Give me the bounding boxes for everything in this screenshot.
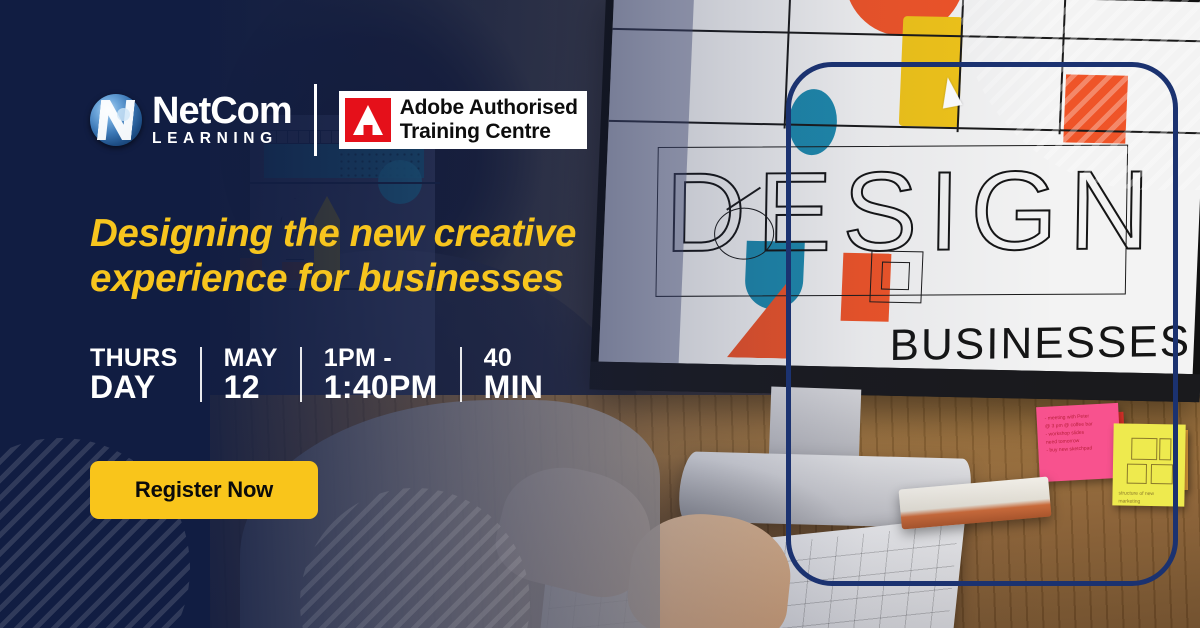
desktop-monitor: DESIGN BUSINESSES xyxy=(589,0,1200,402)
event-time-start: 1PM - xyxy=(324,345,438,371)
netcom-globe-icon xyxy=(90,94,142,146)
register-now-button[interactable]: Register Now xyxy=(90,461,318,519)
detail-divider xyxy=(460,347,462,402)
sticky-note-yellow: structure of new marketing xyxy=(1112,423,1185,506)
adobe-badge-line1: Adobe Authorised xyxy=(400,96,578,120)
screen-shape-orange-square xyxy=(1063,74,1128,143)
event-day-top: THURS xyxy=(90,345,178,371)
sticky-pink-text: - meeting with Peter @ 3 pm @ coffee bar… xyxy=(1036,404,1102,463)
adobe-badge-text: Adobe Authorised Training Centre xyxy=(400,96,578,145)
event-detail-time: 1PM - 1:40PM xyxy=(302,345,460,404)
detail-divider xyxy=(200,347,202,402)
screen-spiral-motif xyxy=(869,250,923,303)
event-detail-duration: 40 MIN xyxy=(462,345,566,404)
adobe-authorised-training-centre-badge: Adobe Authorised Training Centre xyxy=(339,91,587,150)
businesses-text: BUSINESSES xyxy=(889,317,1191,371)
screen-shape-yellow-rect xyxy=(899,16,964,127)
event-detail-day: THURS DAY xyxy=(90,345,200,404)
netcom-name: NetCom xyxy=(152,93,292,129)
sticky-yellow-text: structure of new marketing xyxy=(1110,481,1162,514)
monitor-screen: DESIGN BUSINESSES xyxy=(599,0,1200,374)
logo-lockup: NetCom LEARNING Adobe Authorised Trainin… xyxy=(90,84,587,156)
event-duration-number: 40 xyxy=(484,345,544,371)
adobe-a-icon xyxy=(345,98,391,142)
event-detail-date: MAY 12 xyxy=(202,345,300,404)
detail-divider xyxy=(300,347,302,402)
sticky-wireframe-box2 xyxy=(1159,438,1171,460)
sticky-note-pink: - meeting with Peter @ 3 pm @ coffee bar… xyxy=(1036,403,1122,482)
event-month: MAY xyxy=(224,345,278,371)
monitor-neck xyxy=(769,386,862,464)
netcom-learning-logo: NetCom LEARNING xyxy=(90,93,292,147)
promo-content: NetCom LEARNING Adobe Authorised Trainin… xyxy=(0,0,660,628)
sticky-wireframe-box1 xyxy=(1131,438,1157,460)
sticky-pink-line5: - buy new sketchpad xyxy=(1046,444,1094,454)
adobe-badge-line2: Training Centre xyxy=(400,120,578,144)
netcom-subtitle: LEARNING xyxy=(152,130,292,147)
logo-divider xyxy=(314,84,317,156)
webinar-promo-banner: DESIGN BUSINESSES xyxy=(0,0,1200,628)
netcom-wordmark: NetCom LEARNING xyxy=(152,93,292,147)
event-details-bar: THURS DAY MAY 12 1PM - 1:40PM 40 MIN xyxy=(90,345,565,404)
page-title: Designing the new creative experience fo… xyxy=(90,212,670,301)
event-time-end: 1:40PM xyxy=(324,371,438,404)
event-duration-unit: MIN xyxy=(484,371,544,404)
event-day-bottom: DAY xyxy=(90,371,178,404)
event-date-number: 12 xyxy=(224,371,278,404)
sticky-yellow-line2: marketing xyxy=(1118,497,1154,506)
